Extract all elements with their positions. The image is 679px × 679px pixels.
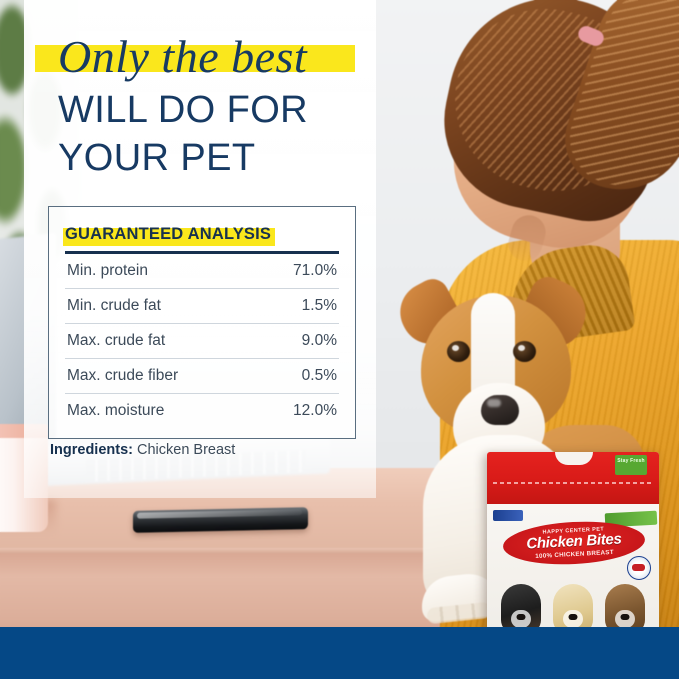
headline-line-2: WILL DO FOR	[58, 86, 376, 134]
package-dog-2	[549, 572, 597, 634]
table-row: Max. crude fat 9.0%	[65, 324, 339, 359]
row-label: Min. crude fat	[67, 297, 161, 315]
row-value: 1.5%	[302, 297, 337, 315]
row-label: Min. protein	[67, 262, 148, 280]
ingredients-value: Chicken Breast	[137, 442, 235, 458]
stay-fresh-text: Stay Fresh	[615, 455, 647, 465]
row-value: 9.0%	[302, 332, 337, 350]
ad-canvas: Only the best WILL DO FOR YOUR PET GUARA…	[0, 0, 679, 679]
row-value: 12.0%	[293, 402, 337, 420]
table-row: Max. crude fiber 0.5%	[65, 359, 339, 394]
ingredients-label: Ingredients:	[50, 442, 133, 458]
table-row: Max. moisture 12.0%	[65, 394, 339, 428]
row-label: Max. moisture	[67, 402, 164, 420]
card-title-wrap: GUARANTEED ANALYSIS	[65, 225, 271, 244]
row-value: 0.5%	[302, 367, 337, 385]
package-tear-strip	[493, 482, 653, 484]
card-title: GUARANTEED ANALYSIS	[65, 225, 271, 244]
package-dog-1	[497, 572, 545, 634]
headline-script: Only the best	[58, 28, 376, 86]
dog-left-eye	[447, 341, 470, 362]
guaranteed-analysis-card: GUARANTEED ANALYSIS Min. protein 71.0% M…	[48, 206, 356, 439]
row-label: Max. crude fiber	[67, 367, 178, 385]
bottom-navy-bar	[0, 627, 679, 679]
script-headline-row: Only the best	[24, 28, 376, 86]
headline-line-3: YOUR PET	[58, 134, 376, 182]
package-dog-photos	[497, 570, 649, 634]
table-row: Min. crude fat 1.5%	[65, 289, 339, 324]
headline-block: Only the best WILL DO FOR YOUR PET	[24, 28, 376, 182]
ingredients-line: Ingredients: Chicken Breast	[50, 442, 235, 458]
row-value: 71.0%	[293, 262, 337, 280]
stay-fresh-badge: Stay Fresh	[615, 455, 647, 475]
dog-nose-highlight	[487, 399, 501, 407]
analysis-rows: Min. protein 71.0% Min. crude fat 1.5% M…	[65, 254, 339, 428]
dog-photo-nose	[517, 614, 526, 620]
row-label: Max. crude fat	[67, 332, 165, 350]
table-row: Min. protein 71.0%	[65, 254, 339, 289]
package-blue-tag	[493, 510, 523, 521]
dog-photo-nose	[621, 614, 630, 620]
dog-photo-nose	[569, 614, 578, 620]
package-dog-3	[601, 572, 649, 634]
dog-right-eye	[513, 341, 536, 362]
